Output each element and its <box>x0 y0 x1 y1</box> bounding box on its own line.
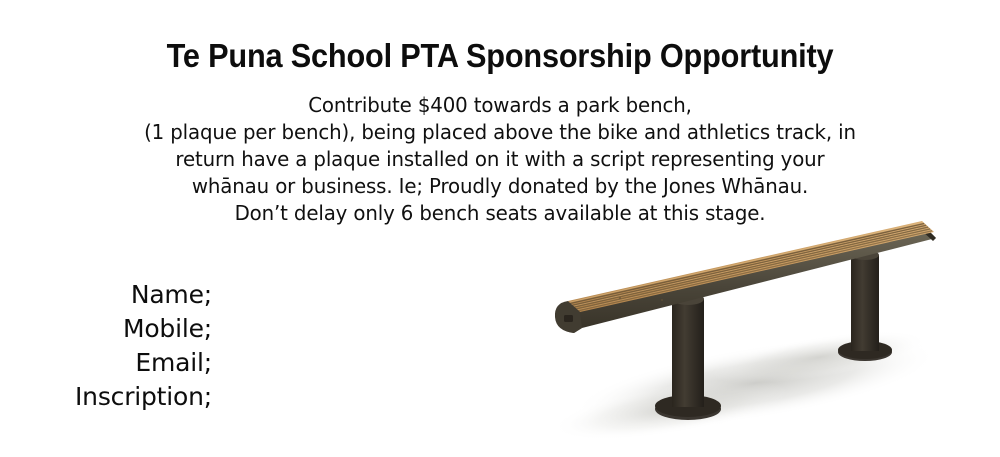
body-line-2: (1 plaque per bench), being placed above… <box>109 119 891 146</box>
body-line-3: return have a plaque installed on it wit… <box>109 146 891 173</box>
bench-leg-rear <box>838 250 892 361</box>
body-line-4: whānau or business. Ie; Proudly donated … <box>109 173 891 200</box>
form-label-email: Email; <box>0 346 212 380</box>
park-bench-image <box>520 205 990 455</box>
park-bench-illustration <box>520 205 990 455</box>
form-label-mobile: Mobile; <box>0 312 212 346</box>
bench-seat-slats <box>568 221 934 312</box>
bench-shadow <box>548 319 944 453</box>
body-line-1: Contribute $400 towards a park bench, <box>109 92 891 119</box>
form-label-name: Name; <box>0 278 212 312</box>
page-title: Te Puna School PTA Sponsorship Opportuni… <box>35 38 965 74</box>
form-label-inscription: Inscription; <box>0 380 212 414</box>
poster-canvas: Te Puna School PTA Sponsorship Opportuni… <box>0 0 1000 457</box>
form-label-list: Name; Mobile; Email; Inscription; <box>0 278 212 414</box>
